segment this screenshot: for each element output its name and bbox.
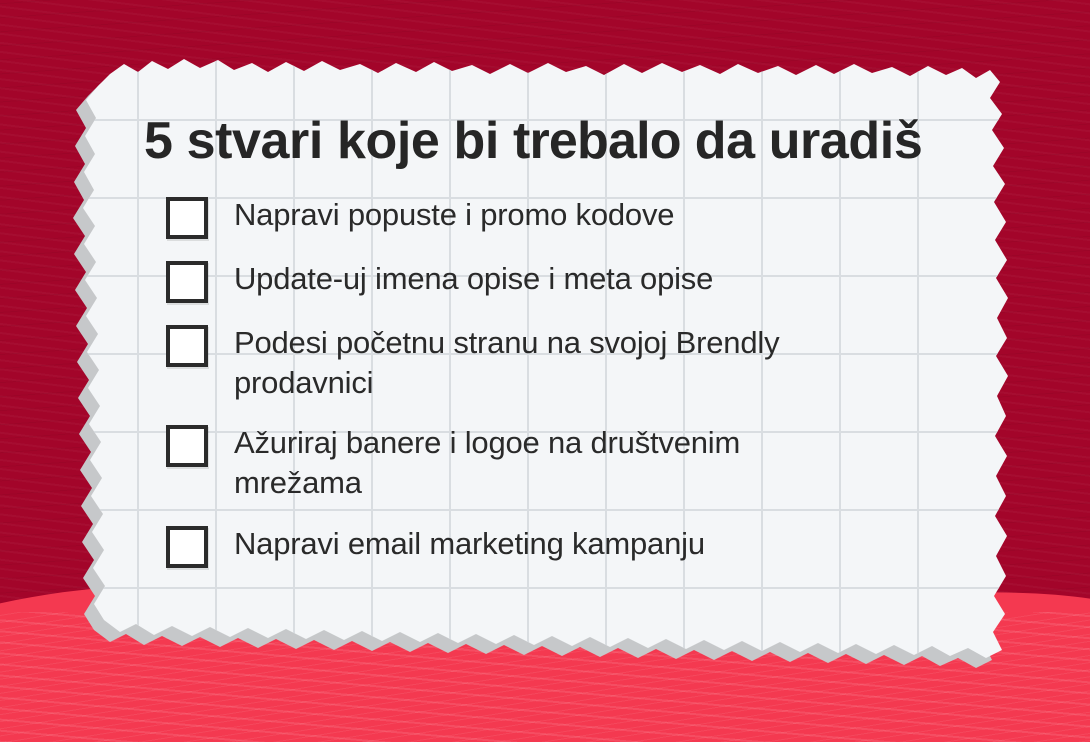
list-item-label: Podesi početnu stranu na svojoj Brendly … [234, 323, 874, 404]
title-emphasis: trebalo [513, 112, 681, 170]
title-part-before: 5 stvari koje bi [144, 112, 513, 170]
list-item-label: Napravi popuste i promo kodove [234, 195, 674, 235]
page-title: 5 stvari koje bi trebalo da uradiš [144, 114, 956, 169]
checkbox-icon[interactable] [166, 526, 208, 568]
list-item-label: Update-uj imena opise i meta opise [234, 259, 713, 299]
list-item[interactable]: Ažuriraj banere i logoe na društvenim mr… [166, 423, 956, 504]
checkbox-icon[interactable] [166, 197, 208, 239]
list-item[interactable]: Podesi početnu stranu na svojoj Brendly … [166, 323, 956, 404]
list-item-label: Napravi email marketing kampanju [234, 524, 705, 564]
list-item[interactable]: Update-uj imena opise i meta opise [166, 259, 956, 303]
checkbox-icon[interactable] [166, 325, 208, 367]
list-item-label: Ažuriraj banere i logoe na društvenim mr… [234, 423, 874, 504]
checkbox-icon[interactable] [166, 425, 208, 467]
torn-paper-card: 5 stvari koje bi trebalo da uradiš Napra… [72, 52, 1012, 672]
poster-canvas: 5 stvari koje bi trebalo da uradiš Napra… [0, 0, 1090, 742]
list-item[interactable]: Napravi email marketing kampanju [166, 524, 956, 568]
title-part-after: da uradiš [681, 112, 923, 170]
checkbox-icon[interactable] [166, 261, 208, 303]
list-item[interactable]: Napravi popuste i promo kodove [166, 195, 956, 239]
checklist: Napravi popuste i promo kodove Update-uj… [166, 195, 956, 568]
card-content: 5 stvari koje bi trebalo da uradiš Napra… [72, 52, 1012, 672]
